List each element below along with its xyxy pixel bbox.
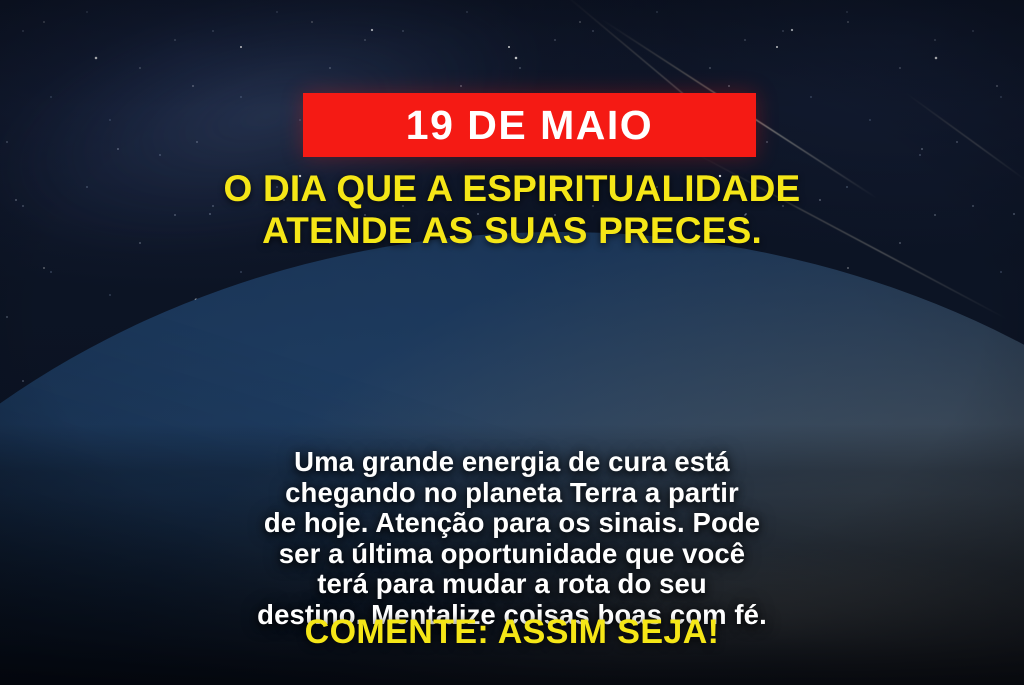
content-layer: 19 DE MAIO O DIA QUE A ESPIRITUALIDADE A… (0, 0, 1024, 685)
headline-line-1: O DIA QUE A ESPIRITUALIDADE (0, 168, 1024, 210)
body-line-5: terá para mudar a rota do seu (52, 569, 972, 600)
date-banner: 19 DE MAIO (303, 93, 756, 157)
body-line-2: chegando no planeta Terra a partir (52, 478, 972, 509)
body-line-3: de hoje. Atenção para os sinais. Pode (52, 508, 972, 539)
body-line-4: ser a última oportunidade que você (52, 539, 972, 570)
poster-canvas: 19 DE MAIO O DIA QUE A ESPIRITUALIDADE A… (0, 0, 1024, 685)
headline-line-2: ATENDE AS SUAS PRECES. (0, 210, 1024, 252)
call-to-action-text: COMENTE: ASSIM SEJA! (0, 615, 1024, 649)
body-copy: Uma grande energia de cura está chegando… (52, 447, 972, 630)
date-banner-label: 19 DE MAIO (406, 105, 653, 146)
body-line-1: Uma grande energia de cura está (52, 447, 972, 478)
headline: O DIA QUE A ESPIRITUALIDADE ATENDE AS SU… (0, 168, 1024, 252)
